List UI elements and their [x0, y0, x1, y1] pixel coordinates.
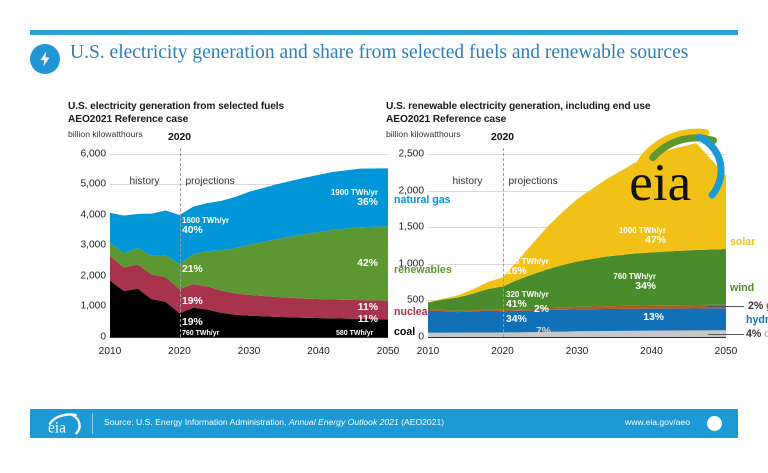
x-axis-tick-label: 2030 [238, 346, 261, 357]
chart-annotation: 760 TWh/yr34% [613, 272, 656, 292]
page-title: U.S. electricity generation and share fr… [70, 40, 710, 67]
x-axis-tick-label: 2040 [640, 346, 663, 357]
legend-wind: wind [730, 282, 754, 294]
annotation-pct: 34% [506, 314, 527, 325]
chart-annotation: 7% [536, 326, 551, 337]
annotation-pct: 13% [643, 312, 664, 323]
left-plot-area: 01,0002,0003,0004,0005,0006,000201020202… [110, 154, 388, 337]
annotation-twh: 320 TWh/yr [506, 290, 549, 299]
y-axis-tick-label: 1,000 [66, 301, 106, 312]
annotation-pct: 16% [506, 266, 549, 277]
annotation-pct: 19% [182, 317, 203, 328]
footer-source: Source: U.S. Energy Information Administ… [104, 417, 444, 427]
history-region-label: history [130, 176, 160, 187]
projection-divider [503, 148, 504, 337]
x-axis-tick-label: 2010 [99, 346, 122, 357]
chart-annotation: 19% [182, 296, 203, 307]
chart-panel-left: U.S. electricity generation from selecte… [68, 100, 388, 359]
annotation-twh: 760 TWh/yr [182, 330, 219, 337]
annotation-pct: 11% [358, 302, 378, 313]
legend-geothermal-pct: 2% [748, 300, 763, 312]
svg-text:eia: eia [629, 154, 691, 206]
legend-other: other [764, 328, 768, 340]
y-axis-tick-label: 5,000 [66, 179, 106, 190]
annotation-pct: 7% [536, 326, 551, 337]
history-region-label: history [453, 176, 483, 187]
left-chart-ylabel: billion kilowatthours [68, 129, 388, 139]
left-chart: 01,0002,0003,0004,0005,0006,000201020202… [68, 144, 388, 359]
legend-solar: solar [730, 236, 755, 248]
x-axis-tick-label: 2030 [566, 346, 589, 357]
divider-year-label: 2020 [491, 132, 514, 143]
chart-annotation: 1600 TWh/yr40% [182, 216, 229, 236]
chart-annotation: 42% [357, 258, 378, 269]
annotation-twh: 1600 TWh/yr [182, 216, 229, 225]
area-hydroelectric [428, 308, 726, 332]
footer-source-prefix: Source: U.S. Energy Information Administ… [104, 417, 289, 427]
x-axis-tick-label: 2020 [491, 346, 514, 357]
annotation-pct: 11% [358, 314, 378, 325]
lightning-bolt-icon [30, 44, 60, 74]
annotation-pct: 42% [357, 258, 378, 269]
y-axis-tick-label: 2,500 [384, 148, 424, 159]
annotation-twh: 1000 TWh/yr [619, 226, 666, 235]
footer-dot-icon [707, 416, 722, 431]
projections-region-label: projections [509, 176, 558, 187]
y-axis-tick-label: 2,000 [384, 185, 424, 196]
legend-other-pct: 4% [746, 328, 761, 340]
footer-source-suffix: (AEO2021) [399, 417, 444, 427]
annotation-pct: 19% [182, 296, 203, 307]
footer-source-title: Annual Energy Outlook 2021 [289, 417, 399, 427]
leader-line-other [708, 334, 744, 335]
chart-annotation: 11% [358, 302, 378, 313]
annotation-pct: 2% [534, 304, 549, 315]
chart-annotation: 19% [182, 317, 203, 328]
y-axis-tick-label: 1,500 [384, 222, 424, 233]
projection-divider [180, 148, 181, 337]
left-chart-title: U.S. electricity generation from selecte… [68, 100, 388, 127]
chart-annotation: 21% [182, 264, 203, 275]
divider-year-label: 2020 [168, 132, 191, 143]
chart-annotation: 1900 TWh/yr36% [331, 188, 378, 208]
x-axis-tick-label: 2010 [417, 346, 440, 357]
annotation-pct: 34% [613, 281, 656, 292]
annotation-pct: 21% [182, 264, 203, 275]
chart-annotation: 34% [506, 314, 527, 325]
chart-annotation: 125 TWh/yr16% [506, 257, 549, 277]
y-axis-tick-label: 2,000 [66, 270, 106, 281]
x-axis-tick-label: 2040 [307, 346, 330, 357]
y-axis-tick-label: 0 [66, 331, 106, 342]
right-chart-subtitle: AEO2021 Reference case [386, 114, 506, 125]
x-axis-tick-label: 2020 [168, 346, 191, 357]
x-axis-line [110, 337, 388, 339]
chart-panel-right: U.S. renewable electricity generation, i… [386, 100, 726, 359]
annotation-twh: 760 TWh/yr [613, 272, 656, 281]
y-axis-tick-label: 3,000 [66, 240, 106, 251]
y-axis-tick-label: 1,000 [384, 258, 424, 269]
leader-line-geothermal [708, 306, 744, 307]
svg-text:eia: eia [48, 420, 66, 435]
y-axis-tick-label: 6,000 [66, 148, 106, 159]
projections-region-label: projections [186, 176, 235, 187]
footer-divider [92, 413, 93, 434]
slide-root: U.S. electricity generation and share fr… [0, 0, 768, 473]
legend-hydroelectric: hydroelectric [746, 314, 768, 326]
footer-url[interactable]: www.eia.gov/aeo [625, 417, 690, 427]
x-axis-tick-label: 2050 [715, 346, 738, 357]
header-accent-bar [30, 30, 738, 35]
right-chart-title: U.S. renewable electricity generation, i… [386, 100, 726, 127]
annotation-pct: 47% [619, 235, 666, 246]
eia-logo: eia [618, 128, 728, 206]
chart-annotation: 11% [358, 314, 378, 325]
x-axis-line [428, 337, 726, 339]
annotation-twh: 1900 TWh/yr [331, 188, 378, 197]
annotation-pct: 40% [182, 225, 229, 236]
y-axis-tick-label: 4,000 [66, 209, 106, 220]
y-axis-tick-label: 0 [384, 331, 424, 342]
footer-bar: eia Source: U.S. Energy Information Admi… [30, 409, 738, 438]
left-chart-subtitle: AEO2021 Reference case [68, 114, 188, 125]
annotation-pct: 36% [331, 197, 378, 208]
footer-eia-logo: eia [42, 412, 86, 435]
annotation-twh: 580 TWh/yr [336, 330, 373, 337]
y-axis-tick-label: 500 [384, 295, 424, 306]
left-chart-title-line1: U.S. electricity generation from selecte… [68, 101, 284, 112]
chart-annotation: 1000 TWh/yr47% [619, 226, 666, 246]
chart-annotation: 2% [534, 304, 549, 315]
chart-annotation: 13% [643, 312, 664, 323]
right-chart-title-line1: U.S. renewable electricity generation, i… [386, 101, 650, 112]
annotation-twh: 125 TWh/yr [506, 257, 549, 266]
